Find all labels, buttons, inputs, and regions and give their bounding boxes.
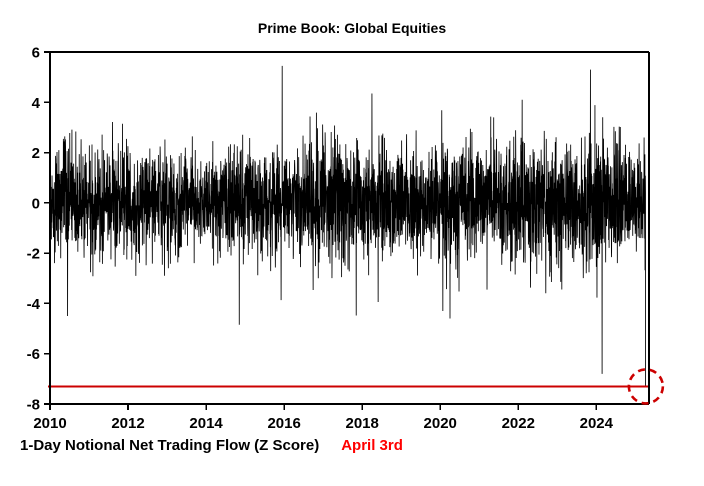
y-tick-label: 6 bbox=[32, 45, 40, 62]
x-tick-label: 2024 bbox=[580, 415, 614, 432]
x-tick-label: 2018 bbox=[345, 415, 378, 432]
y-tick-label: 2 bbox=[32, 145, 40, 162]
x-tick-label: 2010 bbox=[33, 415, 66, 432]
x-tick-label: 2014 bbox=[189, 415, 223, 432]
x-tick-label: 2016 bbox=[267, 415, 300, 432]
x-tick-label: 2020 bbox=[424, 415, 457, 432]
chart-footer: 1-Day Notional Net Trading Flow (Z Score… bbox=[20, 437, 403, 454]
chart-title: Prime Book: Global Equities bbox=[0, 20, 704, 36]
y-tick-label: 0 bbox=[32, 195, 40, 212]
chart-subtitle: 1-Day Notional Net Trading Flow (Z Score… bbox=[20, 437, 319, 454]
plot-canvas: 6420-2-4-6-82010201220142016201820202022… bbox=[0, 0, 704, 481]
y-tick-label: -4 bbox=[27, 296, 41, 313]
series-line bbox=[50, 66, 645, 387]
annotation-label: April 3rd bbox=[341, 437, 403, 454]
x-tick-label: 2012 bbox=[111, 415, 144, 432]
series-group bbox=[50, 66, 645, 387]
y-tick-label: -6 bbox=[27, 346, 40, 363]
y-tick-label: 4 bbox=[32, 95, 41, 112]
chart-figure: Prime Book: Global Equities 6420-2-4-6-8… bbox=[0, 0, 704, 481]
x-tick-label: 2022 bbox=[502, 415, 535, 432]
y-tick-label: -2 bbox=[27, 246, 40, 263]
y-tick-label: -8 bbox=[27, 397, 40, 414]
